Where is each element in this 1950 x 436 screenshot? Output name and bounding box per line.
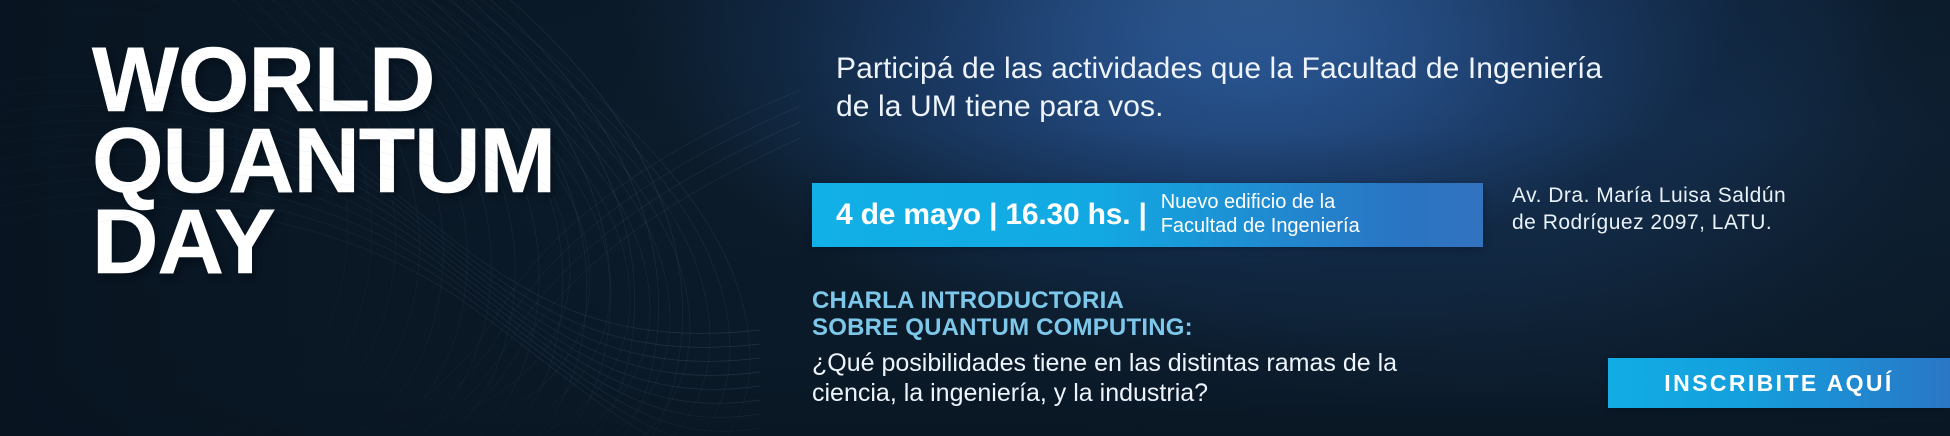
talk-body-line-2: ciencia, la ingeniería, y la industria? <box>812 378 1512 409</box>
title-line-day: DAY <box>92 202 712 283</box>
talk-heading: CHARLA INTRODUCTORIA SOBRE QUANTUM COMPU… <box>812 288 1512 342</box>
page-title: WORLD QUANTUM DAY <box>92 40 712 283</box>
date-time-label: 4 de mayo | 16.30 hs. | <box>812 198 1147 232</box>
talk-heading-line-2: SOBRE QUANTUM COMPUTING: <box>812 315 1512 342</box>
event-banner: WORLD QUANTUM DAY Participá de las activ… <box>0 0 1950 436</box>
lede-line-2: de la UM tiene para vos. <box>836 88 1846 126</box>
date-venue-bar: 4 de mayo | 16.30 hs. | Nuevo edificio d… <box>812 183 1483 247</box>
address-text: Av. Dra. María Luisa Saldún de Rodríguez… <box>1512 183 1932 237</box>
register-button-label: INSCRIBITE AQUÍ <box>1664 370 1893 397</box>
title-line-quantum: QUANTUM <box>92 121 712 202</box>
talk-body-line-1: ¿Qué posibilidades tiene en las distinta… <box>812 348 1512 379</box>
talk-description: CHARLA INTRODUCTORIA SOBRE QUANTUM COMPU… <box>812 288 1512 409</box>
lede-text: Participá de las actividades que la Facu… <box>836 50 1846 126</box>
talk-heading-line-1: CHARLA INTRODUCTORIA <box>812 288 1512 315</box>
address-line-1: Av. Dra. María Luisa Saldún <box>1512 183 1932 210</box>
venue-line-1: Nuevo edificio de la <box>1161 191 1360 215</box>
talk-body: ¿Qué posibilidades tiene en las distinta… <box>812 348 1512 409</box>
address-line-2: de Rodríguez 2097, LATU. <box>1512 210 1932 237</box>
title-line-world: WORLD <box>92 40 712 121</box>
venue-line-2: Facultad de Ingeniería <box>1161 215 1360 239</box>
register-button[interactable]: INSCRIBITE AQUÍ <box>1608 358 1950 408</box>
lede-line-1: Participá de las actividades que la Facu… <box>836 50 1846 88</box>
venue-label: Nuevo edificio de la Facultad de Ingenie… <box>1147 191 1360 238</box>
